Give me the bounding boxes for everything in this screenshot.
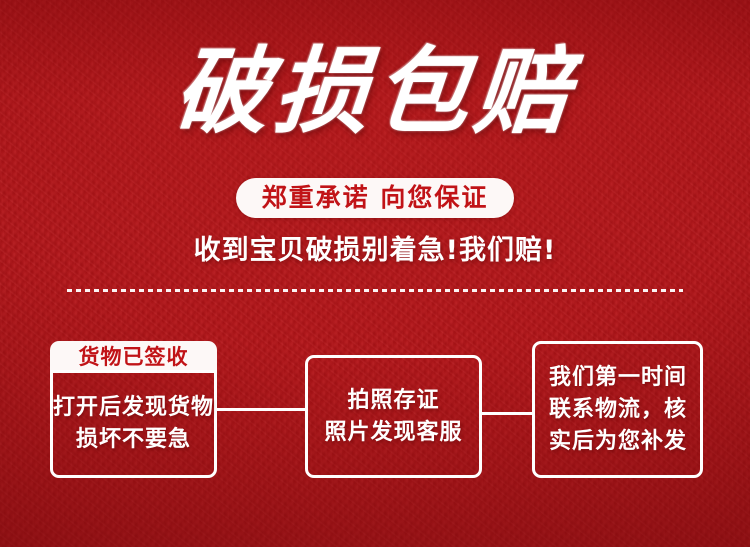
step-box-2: 拍照存证 照片发现客服 bbox=[305, 355, 482, 478]
steps-flow: 货物已签收 打开后发现货物 损坏不要急 拍照存证 照片发现客服 我们第一时间 联… bbox=[0, 0, 750, 547]
connector-step2-step3 bbox=[482, 412, 532, 415]
step-box-3: 我们第一时间 联系物流，核 实后为您补发 bbox=[532, 341, 703, 478]
step-box-1: 打开后发现货物 损坏不要急 bbox=[50, 370, 217, 478]
step-1-tab-label: 货物已签收 bbox=[50, 341, 217, 373]
step-2-body: 拍照存证 照片发现客服 bbox=[324, 385, 462, 449]
step-1-body: 打开后发现货物 损坏不要急 bbox=[53, 392, 214, 456]
promise-banner: 破损包赔 郑重承诺 向您保证 收到宝贝破损别着急!我们赔! 货物已签收 打开后发… bbox=[0, 0, 750, 547]
connector-step1-step2 bbox=[217, 408, 305, 411]
step-3-body: 我们第一时间 联系物流，核 实后为您补发 bbox=[535, 362, 687, 458]
